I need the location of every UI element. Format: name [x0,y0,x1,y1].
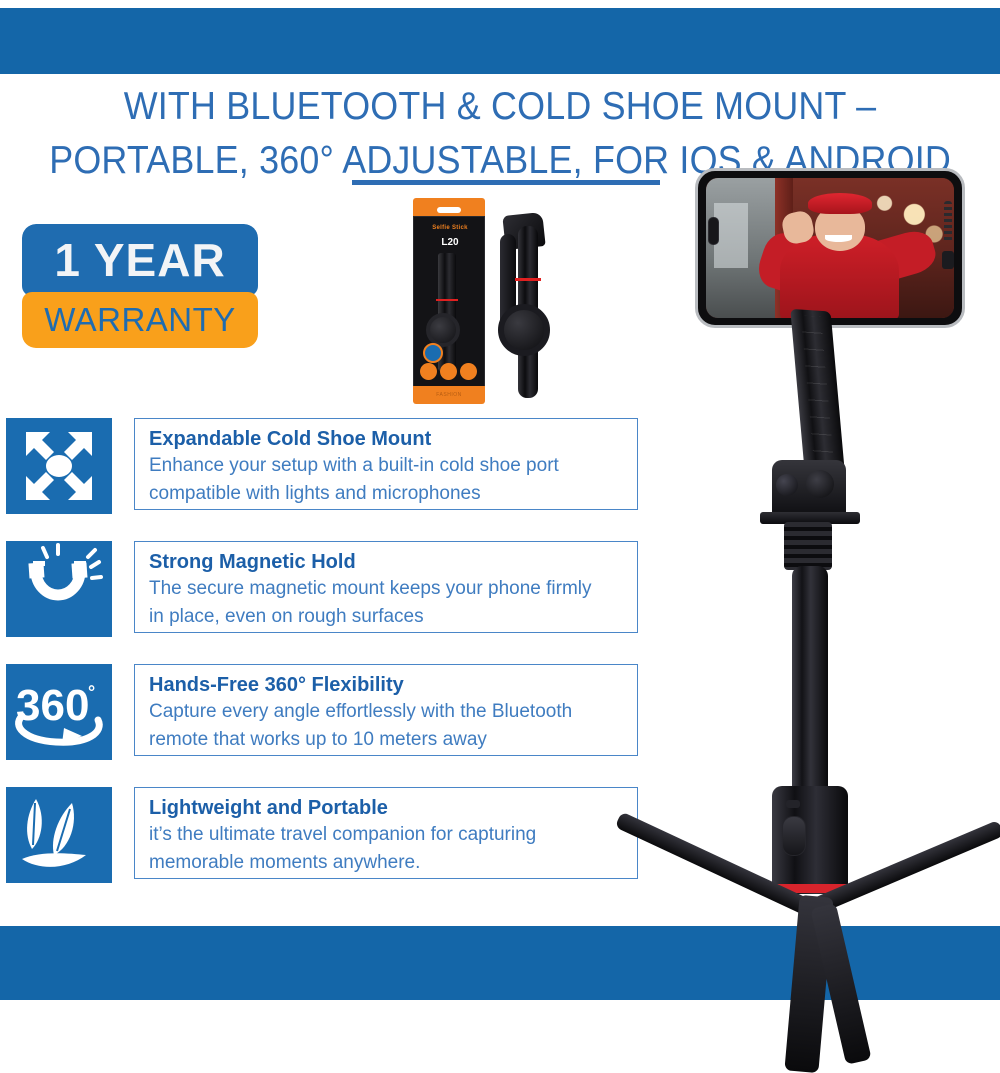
package-footer-text: FASHION [413,386,485,404]
feature-row-lightweight-and-portable: Lightweight and Portable it’s the ultima… [6,787,638,883]
magnet-icon [6,541,112,637]
top-blue-band [0,8,1000,74]
feature-row-expandable-cold-shoe-mount: Expandable Cold Shoe Mount Enhance your … [6,418,638,514]
retail-package-image: Selfie Stick L20 FASHION [413,198,485,406]
feather-icon [6,787,112,883]
phone-mockup [695,168,965,328]
warranty-duration: 1 YEAR [22,224,258,296]
package-footer-strip: FASHION [413,386,485,404]
pivot-joint [772,460,846,520]
phone-camera-icon [708,217,719,245]
phone-charging-port [942,251,954,269]
telescoping-pole [792,566,828,792]
icon-360-degree: ° [88,682,95,702]
package-brand-text: Selfie Stick [414,225,485,231]
package-badge [420,363,437,380]
package-body: Selfie Stick L20 [413,216,485,388]
360-rotation-icon: 360 ° [6,664,112,760]
package-badge [460,363,477,380]
package-ring-art [426,313,460,347]
pivot-disc [806,470,834,498]
headline-line-1: WITH BLUETOOTH & COLD SHOE MOUNT – [124,85,877,128]
selfie-model-beret [808,193,872,214]
threaded-screw-section [784,522,832,570]
warranty-label: WARRANTY [22,292,258,348]
expand-arrows-icon-glyph [6,418,112,514]
phone-screen [706,178,954,318]
feather-icon-glyph [6,787,112,883]
phone-speaker-grill [944,201,952,243]
handle-base [772,786,848,894]
expand-arrows-icon [6,418,112,514]
infographic-canvas: WITH BLUETOOTH & COLD SHOE MOUNT – PORTA… [0,0,1000,1000]
package-badge [440,363,457,380]
feature-row-hands-free-360-flexibility: 360 ° Hands-Free 360° Flexibility Captur… [6,664,638,760]
360-rotation-icon-glyph: 360 ° [6,664,112,760]
icon-360-text: 360 [16,681,89,730]
magnet-icon-glyph [6,541,112,637]
package-feature-badges [420,363,480,380]
warranty-badge: 1 YEAR WARRANTY [22,224,258,352]
power-switch [786,800,800,808]
folded-stick-ring-clamp [498,304,550,356]
feature-row-strong-magnetic-hold: Strong Magnetic Hold The secure magnetic… [6,541,638,637]
package-blue-badge [423,343,443,363]
hero-product-image [560,160,1000,926]
package-model-text: L20 [414,237,485,248]
gooseneck-arm-body [790,309,846,483]
folded-selfie-stick-image [496,208,558,404]
pivot-tightening-knob [776,474,798,496]
shutter-button [782,816,806,856]
